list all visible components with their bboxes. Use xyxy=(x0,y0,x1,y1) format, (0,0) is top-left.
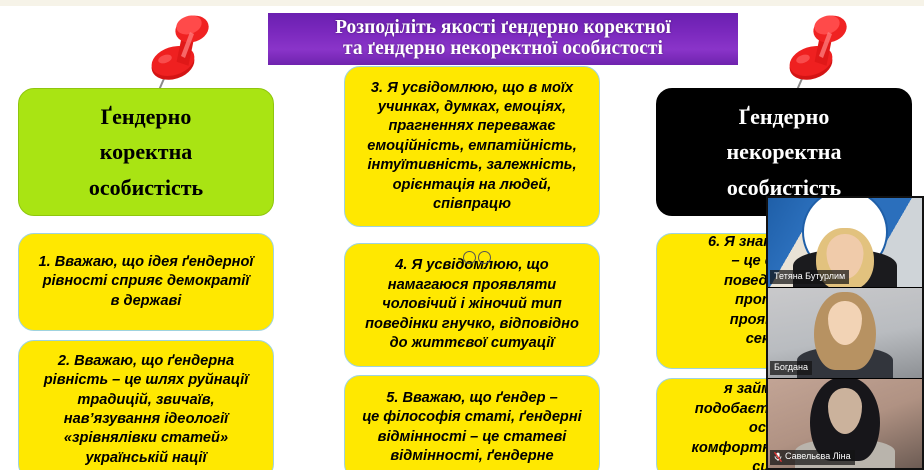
participant-2-name: Богдана xyxy=(774,363,808,372)
pushpin-left-icon xyxy=(140,4,214,100)
statement-text-3: 3. Я усвідомлюю, що в моїх учинках, думк… xyxy=(367,79,577,215)
video-tile-participant-1[interactable]: Тетяна Бутурлим xyxy=(768,198,922,287)
statement-card-1[interactable]: 1. Вважаю, що ідея ґендерної рівності сп… xyxy=(18,233,274,331)
statement-card-4[interactable]: 4. Я усвідомлюю, що намагаюся проявляти … xyxy=(344,243,600,367)
statement-text-1: 1. Вважаю, що ідея ґендерної рівності сп… xyxy=(39,253,254,311)
participant-2-name-chip: Богдана xyxy=(770,361,812,375)
presentation-slide: Розподіліть якості ґендерно коректної та… xyxy=(0,0,924,470)
slide-title: Розподіліть якості ґендерно коректної та… xyxy=(335,18,671,60)
statement-text-5: 5. Вважаю, що ґендер – це філософія стат… xyxy=(362,389,581,467)
mic-muted-icon xyxy=(774,452,782,462)
video-tile-participant-2[interactable]: Богдана xyxy=(768,287,922,377)
statement-card-2[interactable]: 2. Вважаю, що ґендерна рівність – це шля… xyxy=(18,340,274,470)
video-call-panel[interactable]: Тетяна Бутурлим Богдана xyxy=(766,196,924,470)
pushpin-right-icon xyxy=(778,4,852,100)
participant-3-name-chip: Савельєва Ліна xyxy=(770,450,855,465)
top-strip xyxy=(0,0,924,6)
participant-1-name-chip: Тетяна Бутурлим xyxy=(770,270,849,284)
participant-1-name: Тетяна Бутурлим xyxy=(774,272,845,281)
gender-correct-header-card[interactable]: Ґендерно коректна особистість xyxy=(18,88,274,216)
statement-text-4: 4. Я усвідомлюю, що намагаюся проявляти … xyxy=(365,256,579,353)
statement-card-5[interactable]: 5. Вважаю, що ґендер – це філософія стат… xyxy=(344,375,600,470)
statement-card-3[interactable]: 3. Я усвідомлюю, що в моїх учинках, думк… xyxy=(344,66,600,227)
participant-3-name: Савельєва Ліна xyxy=(785,452,851,461)
statement-text-2: 2. Вважаю, що ґендерна рівність – це шля… xyxy=(44,352,249,468)
video-tile-participant-3[interactable]: Савельєва Ліна xyxy=(768,378,922,468)
gender-correct-header-label: Ґендерно коректна особистість xyxy=(89,99,203,206)
gender-incorrect-header-label: Ґендерно некоректна особистість xyxy=(727,99,842,206)
slide-title-banner: Розподіліть якості ґендерно коректної та… xyxy=(268,13,738,65)
